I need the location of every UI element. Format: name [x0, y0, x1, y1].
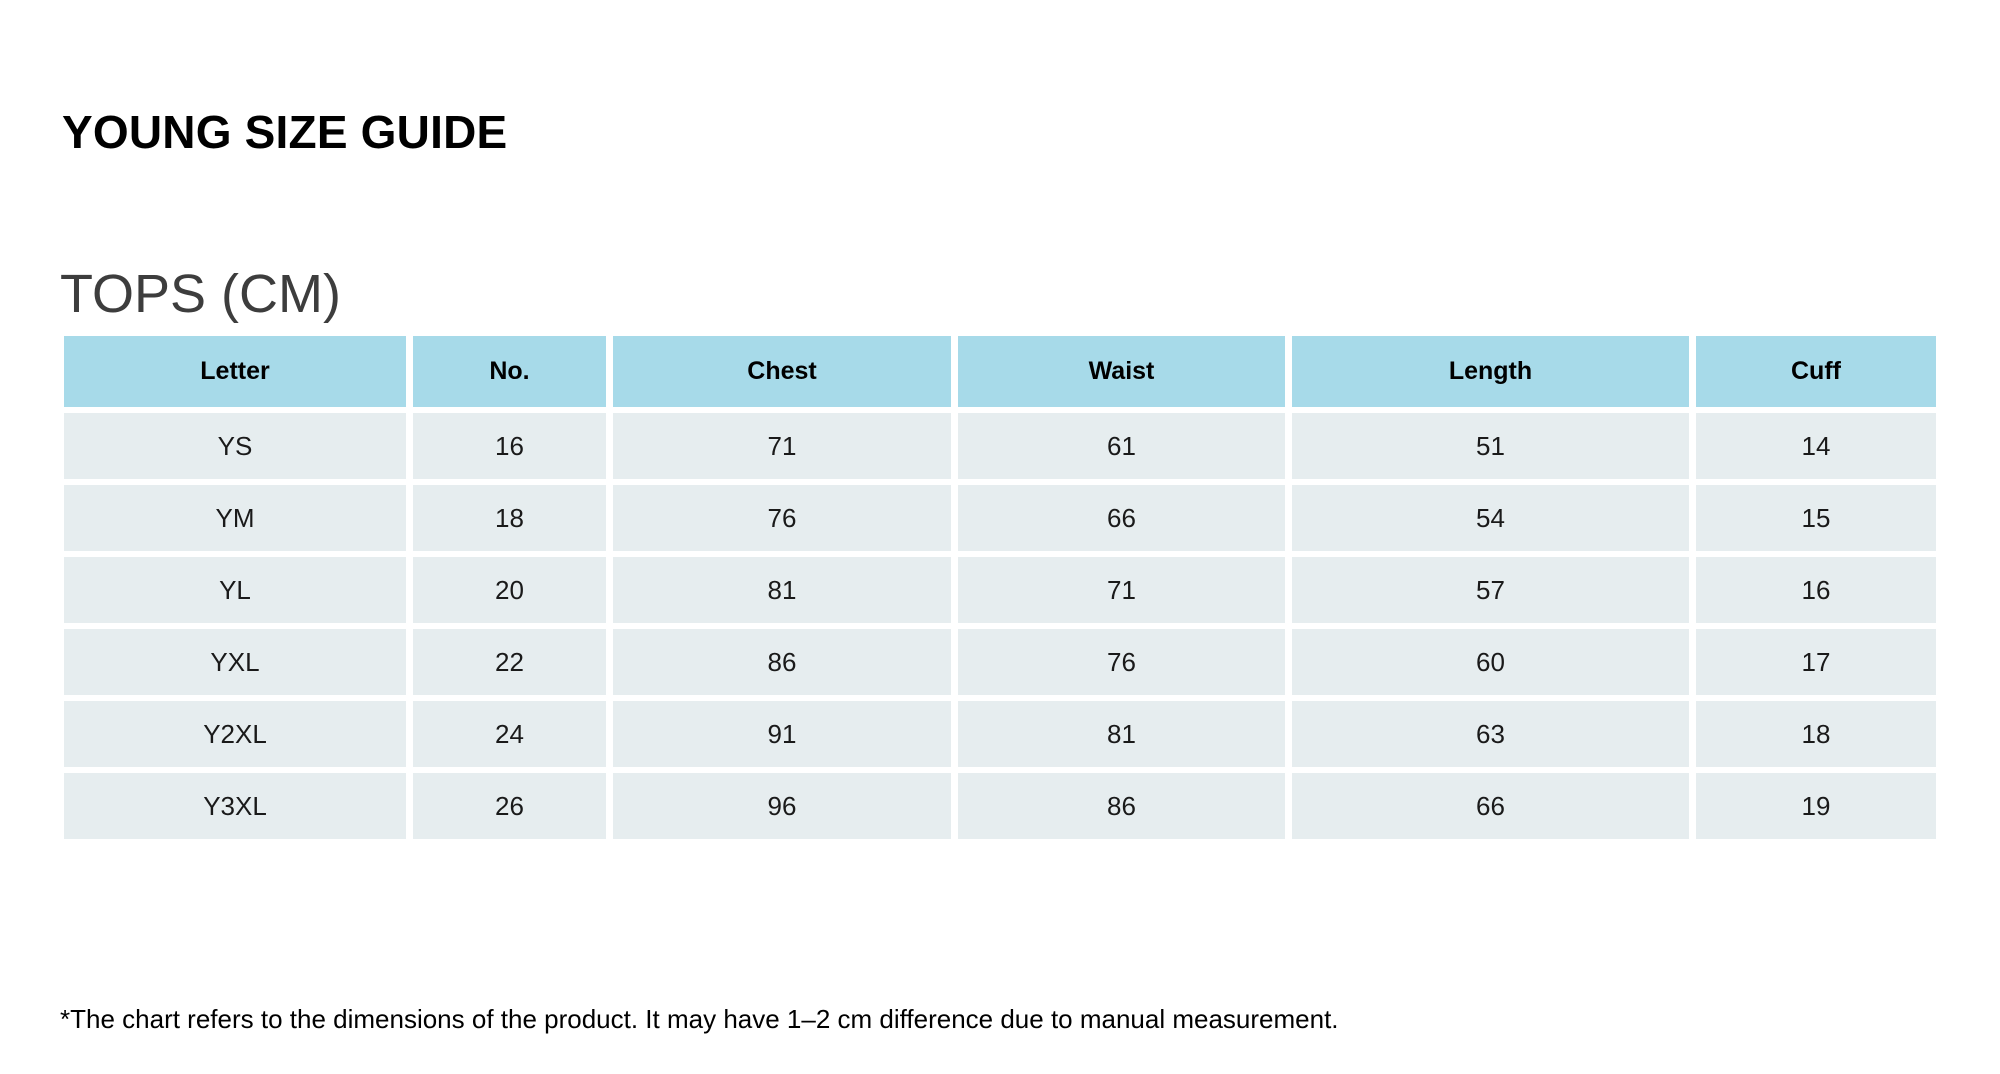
cell-cuff: 14 [1696, 407, 1936, 485]
cell-length: 66 [1292, 773, 1696, 839]
column-header-no: No. [413, 336, 613, 407]
size-chart-table: Letter No. Chest Waist Length Cuff YS 16… [64, 336, 1936, 839]
size-guide-page: YOUNG SIZE GUIDE TOPS (CM) Letter No. Ch… [0, 0, 2000, 1074]
cell-no: 18 [413, 485, 613, 557]
cell-waist: 76 [958, 629, 1292, 701]
table-row: YXL 22 86 76 60 17 [64, 629, 1936, 701]
cell-waist: 66 [958, 485, 1292, 557]
cell-chest: 81 [613, 557, 958, 629]
cell-length: 63 [1292, 701, 1696, 773]
cell-waist: 71 [958, 557, 1292, 629]
cell-letter: YXL [64, 629, 413, 701]
cell-no: 26 [413, 773, 613, 839]
cell-no: 24 [413, 701, 613, 773]
cell-letter: Y2XL [64, 701, 413, 773]
column-header-chest: Chest [613, 336, 958, 407]
cell-letter: YS [64, 407, 413, 485]
page-title: YOUNG SIZE GUIDE [62, 109, 507, 155]
table-row: Y2XL 24 91 81 63 18 [64, 701, 1936, 773]
cell-chest: 86 [613, 629, 958, 701]
cell-cuff: 17 [1696, 629, 1936, 701]
cell-no: 16 [413, 407, 613, 485]
cell-waist: 86 [958, 773, 1292, 839]
table-row: YL 20 81 71 57 16 [64, 557, 1936, 629]
cell-waist: 61 [958, 407, 1292, 485]
table-header-row: Letter No. Chest Waist Length Cuff [64, 336, 1936, 407]
cell-letter: Y3XL [64, 773, 413, 839]
column-header-length: Length [1292, 336, 1696, 407]
cell-no: 20 [413, 557, 613, 629]
cell-length: 51 [1292, 407, 1696, 485]
table-row: YM 18 76 66 54 15 [64, 485, 1936, 557]
column-header-letter: Letter [64, 336, 413, 407]
cell-chest: 96 [613, 773, 958, 839]
cell-letter: YM [64, 485, 413, 557]
cell-cuff: 18 [1696, 701, 1936, 773]
table-row: YS 16 71 61 51 14 [64, 407, 1936, 485]
cell-length: 54 [1292, 485, 1696, 557]
table-row: Y3XL 26 96 86 66 19 [64, 773, 1936, 839]
cell-chest: 76 [613, 485, 958, 557]
table-body: YS 16 71 61 51 14 YM 18 76 66 54 15 YL 2… [64, 407, 1936, 839]
cell-waist: 81 [958, 701, 1292, 773]
cell-length: 60 [1292, 629, 1696, 701]
cell-cuff: 15 [1696, 485, 1936, 557]
cell-length: 57 [1292, 557, 1696, 629]
column-header-waist: Waist [958, 336, 1292, 407]
column-header-cuff: Cuff [1696, 336, 1936, 407]
cell-cuff: 19 [1696, 773, 1936, 839]
measurement-disclaimer: *The chart refers to the dimensions of t… [60, 1004, 1339, 1035]
cell-letter: YL [64, 557, 413, 629]
cell-cuff: 16 [1696, 557, 1936, 629]
section-title: TOPS (CM) [60, 267, 341, 321]
cell-no: 22 [413, 629, 613, 701]
table-head: Letter No. Chest Waist Length Cuff [64, 336, 1936, 407]
cell-chest: 91 [613, 701, 958, 773]
cell-chest: 71 [613, 407, 958, 485]
